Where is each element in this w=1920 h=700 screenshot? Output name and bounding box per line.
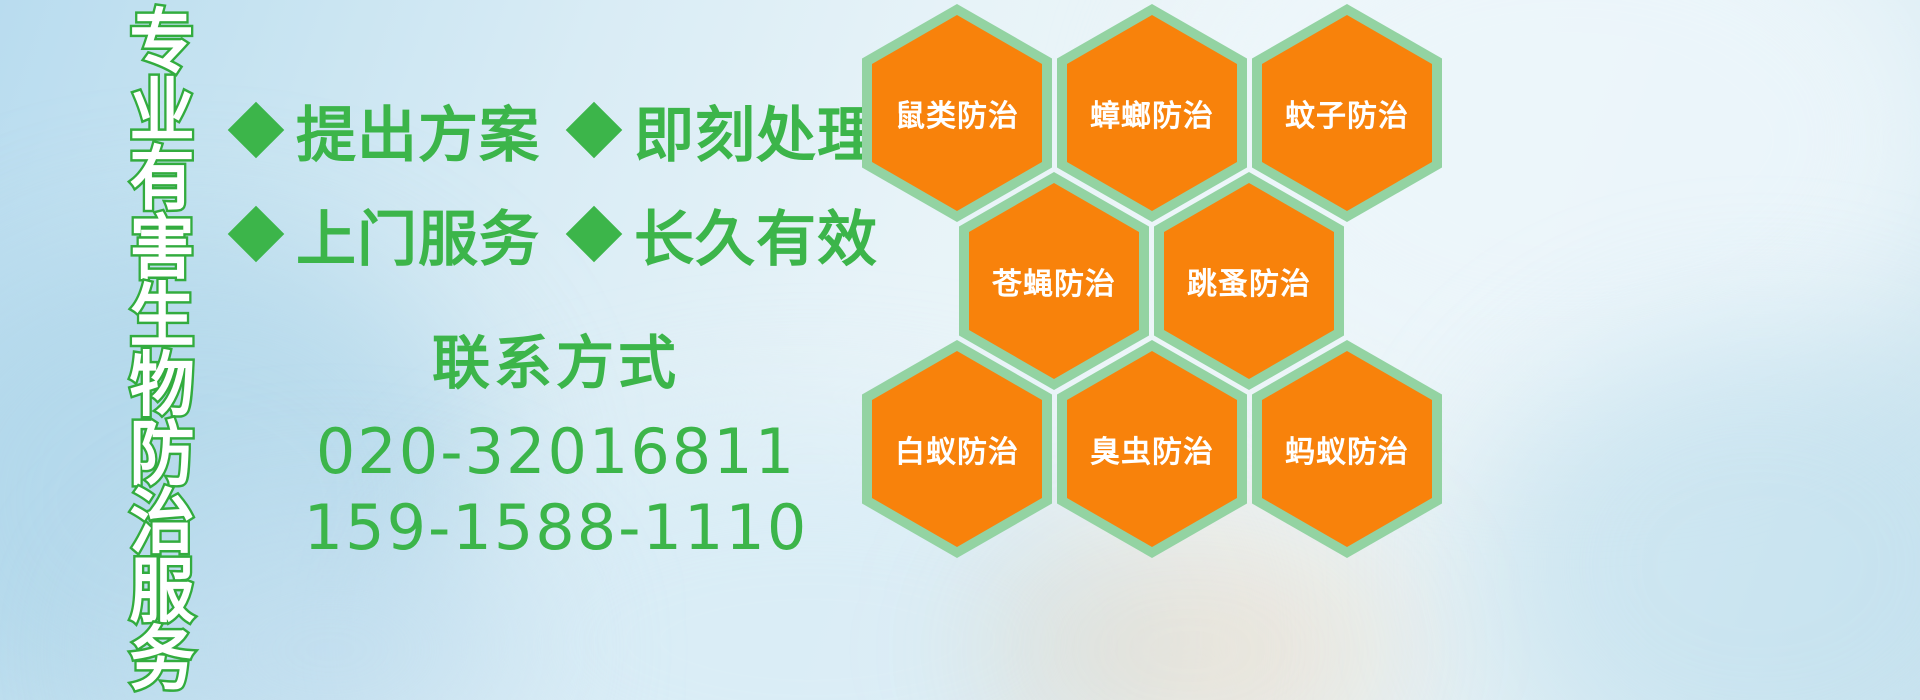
service-hex-inner: 跳蚤防治 (1164, 183, 1334, 379)
service-hex-inner: 苍蝇防治 (969, 183, 1139, 379)
service-hex-fly[interactable]: 苍蝇防治 (959, 172, 1149, 390)
service-hex-bedbug[interactable]: 臭虫防治 (1057, 340, 1247, 558)
service-hex-flea[interactable]: 跳蚤防治 (1154, 172, 1344, 390)
service-hex-inner: 臭虫防治 (1067, 351, 1237, 547)
feature-label: 提出方案 (296, 87, 540, 174)
diamond-icon (228, 102, 285, 159)
service-hex-label: 蚊子防治 (1285, 91, 1409, 135)
feature-label: 长久有效 (634, 191, 878, 278)
service-hexagon-grid: 鼠类防治 蟑螂防治 蚊子防治 苍蝇防治 跳蚤防治 白蚁防治 (862, 0, 1462, 560)
service-hex-inner: 白蚁防治 (872, 351, 1042, 547)
service-hex-inner: 蟑螂防治 (1067, 15, 1237, 211)
service-hex-termite[interactable]: 白蚁防治 (862, 340, 1052, 558)
service-hex-rodent[interactable]: 鼠类防治 (862, 4, 1052, 222)
feature-item-immediate-treatment: 即刻处理 (574, 87, 878, 174)
feature-label: 上门服务 (296, 191, 540, 278)
contact-phone-landline[interactable]: 020-32016811 (236, 414, 876, 490)
service-hex-cockroach[interactable]: 蟑螂防治 (1057, 4, 1247, 222)
service-hex-inner: 蚊子防治 (1262, 15, 1432, 211)
contact-phone-mobile[interactable]: 159-1588-1110 (236, 490, 876, 566)
background-blob (1480, 330, 1920, 700)
feature-item-onsite-service: 上门服务 (236, 191, 540, 278)
feature-row: 提出方案 即刻处理 (236, 78, 876, 182)
service-hex-label: 臭虫防治 (1090, 427, 1214, 471)
vertical-headline-char: 服 (129, 557, 194, 626)
service-hex-ant[interactable]: 蚂蚁防治 (1252, 340, 1442, 558)
service-hex-label: 白蚁防治 (895, 427, 1019, 471)
vertical-headline-char: 有 (129, 145, 194, 214)
diamond-icon (566, 206, 623, 263)
contact-block: 联系方式 020-32016811 159-1588-1110 (236, 316, 876, 565)
feature-item-long-lasting: 长久有效 (574, 191, 878, 278)
vertical-headline: 专 业 有 害 生 物 防 治 服 务 (106, 8, 218, 696)
vertical-headline-char: 务 (129, 625, 194, 694)
vertical-headline-char: 专 (129, 8, 194, 77)
service-hex-label: 蚂蚁防治 (1285, 427, 1409, 471)
service-hex-label: 蟑螂防治 (1090, 91, 1214, 135)
service-hex-inner: 鼠类防治 (872, 15, 1042, 211)
vertical-headline-char: 防 (129, 420, 194, 489)
contact-title: 联系方式 (236, 316, 876, 400)
vertical-headline-char: 物 (129, 351, 194, 420)
feature-item-propose-plan: 提出方案 (236, 87, 540, 174)
vertical-headline-char: 害 (129, 214, 194, 283)
feature-row: 上门服务 长久有效 (236, 182, 876, 286)
pest-control-banner: 专 业 有 害 生 物 防 治 服 务 提出方案 即刻处理 上门服务 (0, 0, 1920, 700)
feature-list: 提出方案 即刻处理 上门服务 长久有效 (236, 78, 876, 286)
vertical-headline-char: 生 (129, 282, 194, 351)
service-hex-label: 苍蝇防治 (992, 259, 1116, 303)
service-hex-inner: 蚂蚁防治 (1262, 351, 1432, 547)
vertical-headline-char: 治 (129, 488, 194, 557)
diamond-icon (566, 102, 623, 159)
feature-label: 即刻处理 (634, 87, 878, 174)
diamond-icon (228, 206, 285, 263)
vertical-headline-char: 业 (129, 77, 194, 146)
service-hex-label: 跳蚤防治 (1187, 259, 1311, 303)
service-hex-label: 鼠类防治 (895, 91, 1019, 135)
service-hex-mosquito[interactable]: 蚊子防治 (1252, 4, 1442, 222)
